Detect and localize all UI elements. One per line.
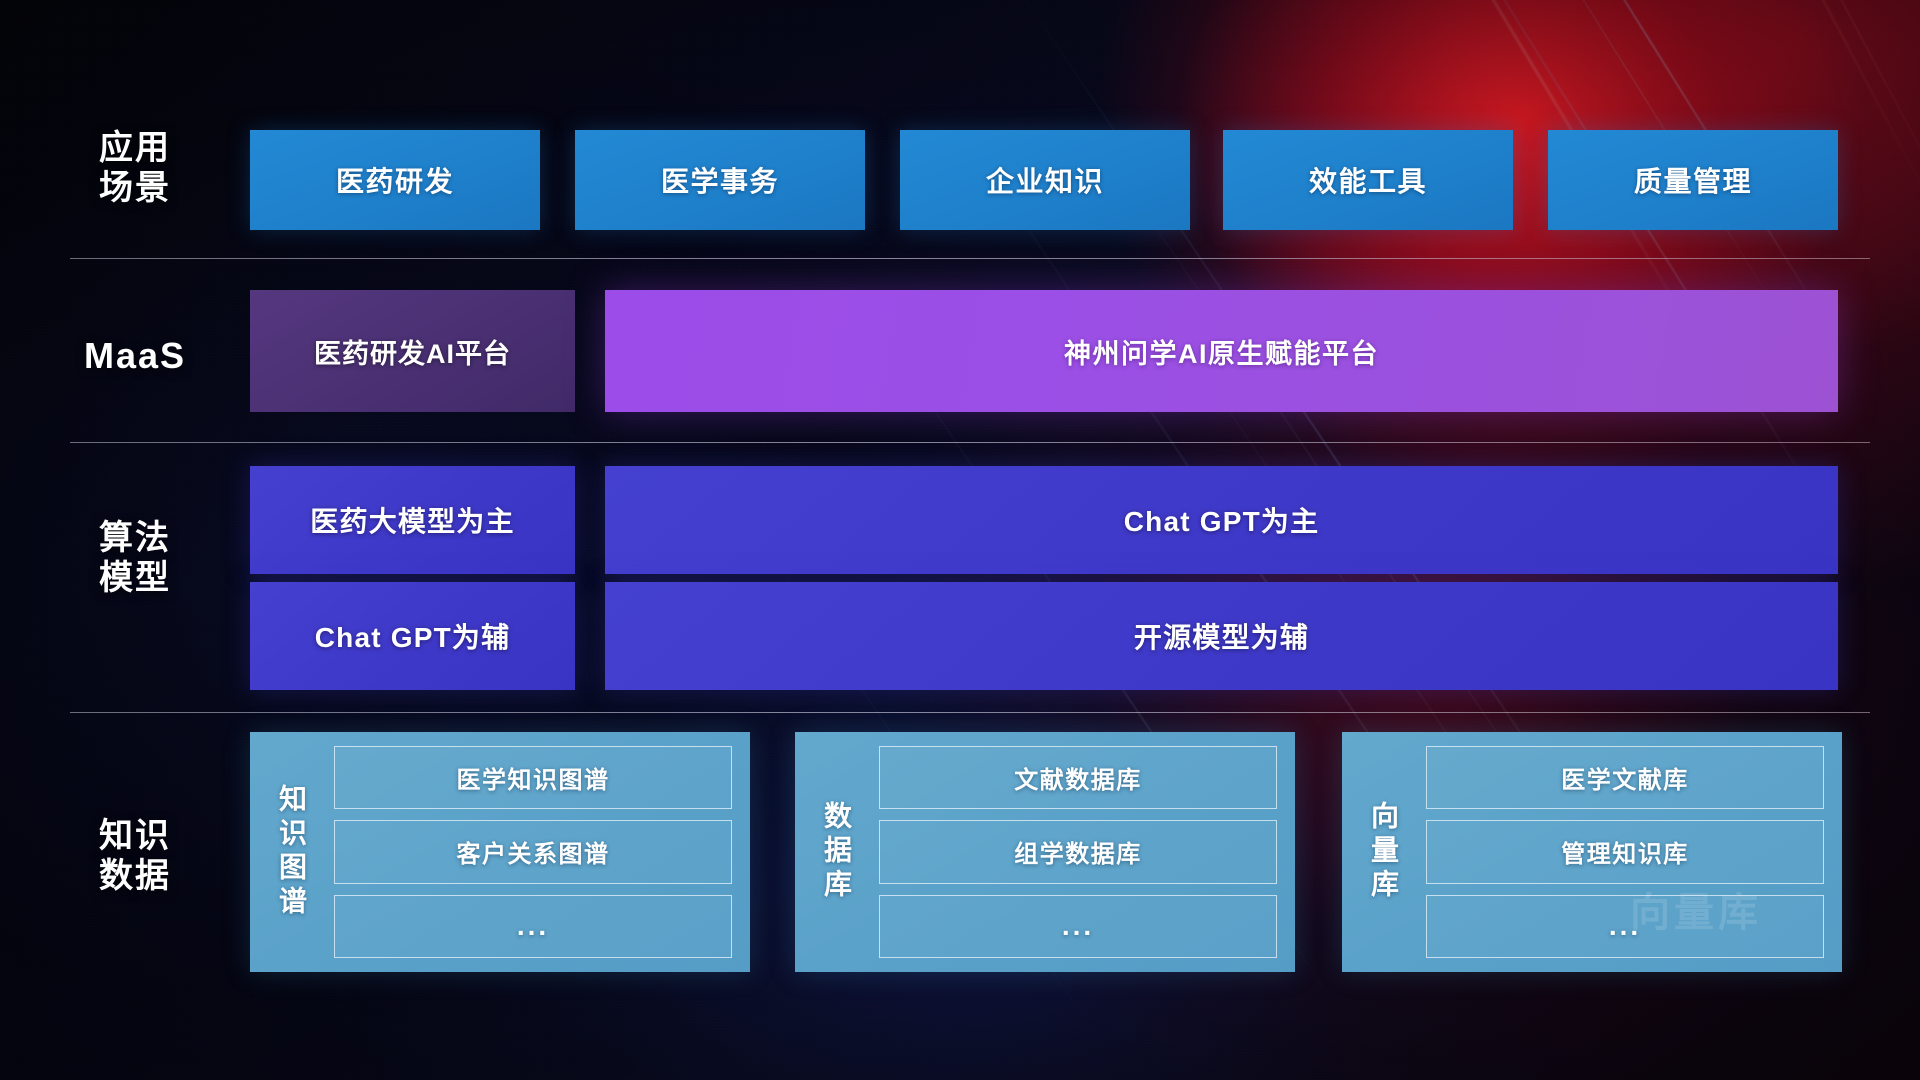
knowledge-panel-items-1: 文献数据库 组学数据库 ... [865,746,1277,958]
knowledge-item-0-1[interactable]: 客户关系图谱 [334,820,732,883]
knowledge-item-1-2[interactable]: ... [879,895,1277,958]
knowledge-panel-title-2: 向量库 [1354,746,1412,958]
app-box-label-0: 医药研发 [336,160,454,200]
maas-left-box[interactable]: 医药研发AI平台 [250,290,575,412]
algo-box-row1-right[interactable]: 开源模型为辅 [605,582,1838,690]
row-label-algorithm-line1: 算法 [70,518,200,558]
row-label-application: 应用 场景 [70,128,200,208]
algo-box-label-row1-left: Chat GPT为辅 [315,616,511,656]
knowledge-item-label-1-0: 文献数据库 [1014,760,1142,795]
app-box-2[interactable]: 企业知识 [900,130,1190,230]
row-label-algorithm-line2: 模型 [70,558,200,598]
knowledge-item-1-0[interactable]: 文献数据库 [879,746,1277,809]
knowledge-item-2-1[interactable]: 管理知识库 [1426,820,1824,883]
knowledge-item-label-2-0: 医学文献库 [1561,760,1689,795]
divider-application-maas [70,258,1870,259]
row-label-application-line2: 场景 [70,168,200,208]
app-box-label-4: 质量管理 [1634,160,1752,200]
knowledge-item-2-0[interactable]: 医学文献库 [1426,746,1824,809]
knowledge-panel-items-0: 医学知识图谱 客户关系图谱 ... [320,746,732,958]
app-box-label-3: 效能工具 [1309,160,1427,200]
row-label-maas-line1: MaaS [70,335,200,377]
app-box-3[interactable]: 效能工具 [1223,130,1513,230]
app-box-4[interactable]: 质量管理 [1548,130,1838,230]
app-box-label-2: 企业知识 [986,160,1104,200]
knowledge-item-label-2-2: ... [1609,910,1641,942]
knowledge-panel-title-0: 知识图谱 [262,746,320,958]
algo-box-label-row1-right: 开源模型为辅 [1134,616,1309,656]
knowledge-item-2-2[interactable]: ... [1426,895,1824,958]
knowledge-panel-title-1: 数据库 [807,746,865,958]
row-label-algorithm: 算法 模型 [70,518,200,598]
algo-box-label-row0-left: 医药大模型为主 [310,500,514,540]
algo-box-row1-left[interactable]: Chat GPT为辅 [250,582,575,690]
divider-algorithm-knowledge [70,712,1870,713]
row-label-knowledge-line2: 数据 [70,856,200,896]
knowledge-item-label-1-1: 组学数据库 [1014,834,1142,869]
knowledge-item-label-1-2: ... [1062,910,1094,942]
maas-right-box[interactable]: 神州问学AI原生赋能平台 [605,290,1838,412]
row-label-application-line1: 应用 [70,128,200,168]
maas-left-box-label: 医药研发AI平台 [314,332,511,371]
algo-box-row0-right[interactable]: Chat GPT为主 [605,466,1838,574]
app-box-0[interactable]: 医药研发 [250,130,540,230]
algo-box-label-row0-right: Chat GPT为主 [1124,500,1320,540]
knowledge-item-0-0[interactable]: 医学知识图谱 [334,746,732,809]
knowledge-item-label-0-0: 医学知识图谱 [457,760,610,795]
knowledge-panel-0[interactable]: 知识图谱 医学知识图谱 客户关系图谱 ... [250,732,750,972]
knowledge-item-label-0-2: ... [517,910,549,942]
knowledge-item-label-2-1: 管理知识库 [1561,834,1689,869]
row-label-maas: MaaS [70,335,200,377]
maas-right-box-label: 神州问学AI原生赋能平台 [1064,332,1379,371]
algo-box-row0-left[interactable]: 医药大模型为主 [250,466,575,574]
knowledge-panel-items-2: 医学文献库 管理知识库 ... [1412,746,1824,958]
app-box-1[interactable]: 医学事务 [575,130,865,230]
row-label-knowledge: 知识 数据 [70,816,200,896]
row-label-knowledge-line1: 知识 [70,816,200,856]
knowledge-item-1-1[interactable]: 组学数据库 [879,820,1277,883]
knowledge-item-0-2[interactable]: ... [334,895,732,958]
knowledge-panel-1[interactable]: 数据库 文献数据库 组学数据库 ... [795,732,1295,972]
divider-maas-algorithm [70,442,1870,443]
architecture-diagram: 应用 场景 医药研发 医学事务 企业知识 效能工具 质量管理 MaaS 医药研发… [0,0,1920,1080]
knowledge-panel-2[interactable]: 向量库 医学文献库 管理知识库 ... [1342,732,1842,972]
app-box-label-1: 医学事务 [661,160,779,200]
knowledge-item-label-0-1: 客户关系图谱 [457,834,610,869]
